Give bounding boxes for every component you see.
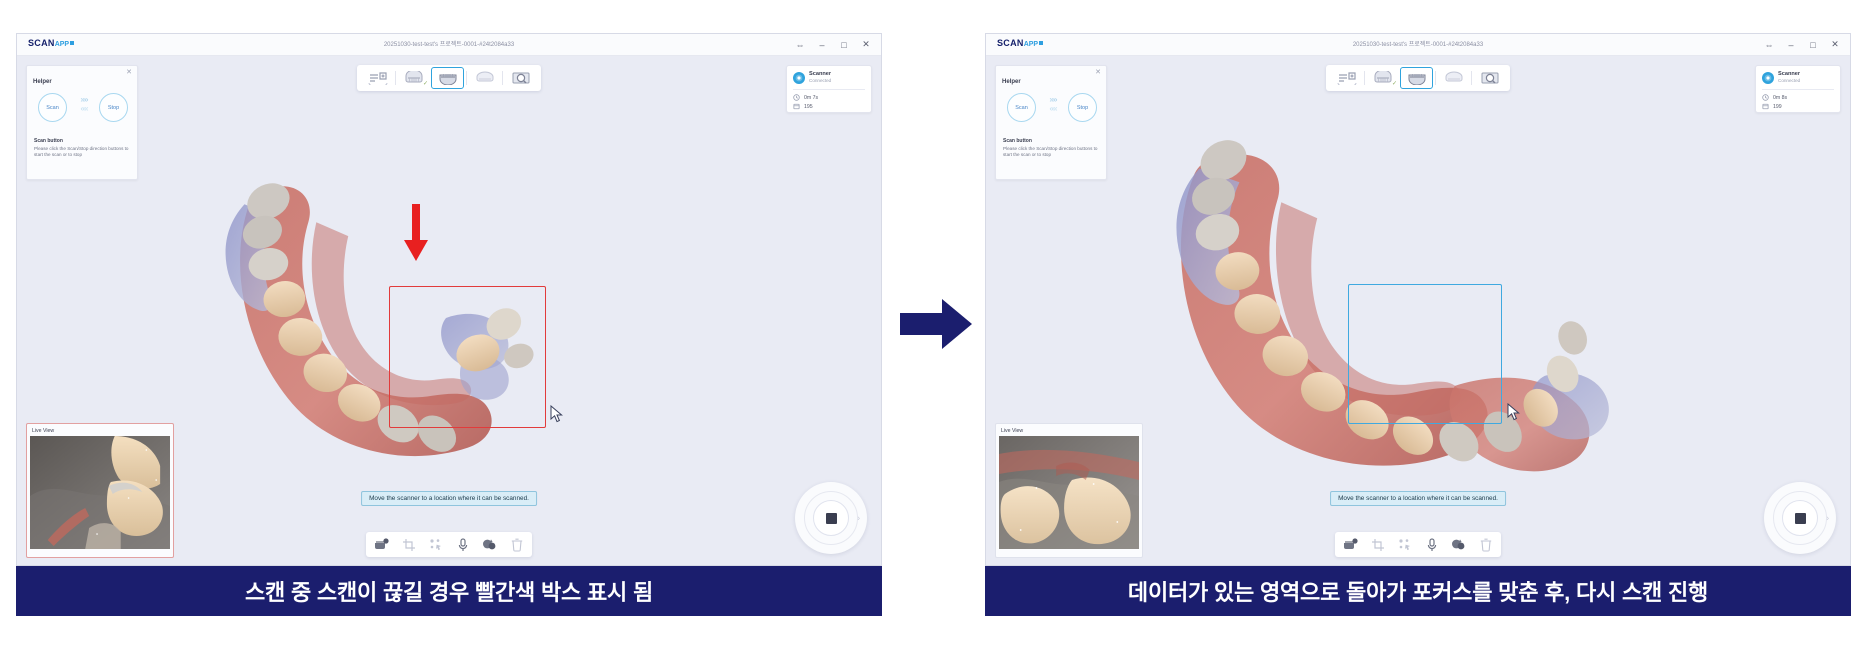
- scanner-header: Scanner Connected: [793, 71, 865, 84]
- scanner-icon: [793, 72, 805, 84]
- top-toolbar[interactable]: ✓: [357, 65, 541, 91]
- chevron-right-icon[interactable]: ›: [857, 514, 860, 523]
- helper-footer-label: Scan button: [34, 138, 131, 144]
- stop-square-icon: [826, 513, 837, 524]
- toolbar-separator: [466, 71, 467, 85]
- lower-jaw-icon[interactable]: [1400, 67, 1433, 89]
- helper-panel[interactable]: Helper ✕ Scan »» «« Stop Scan button Ple…: [995, 65, 1107, 180]
- stop-record-button[interactable]: [813, 500, 849, 536]
- divider: [793, 89, 865, 90]
- window-title: 20251030-test-test's 프로젝트-0001-#24t2084a…: [17, 39, 881, 48]
- frames-icon: [793, 103, 800, 110]
- record-control: ›: [795, 482, 867, 554]
- stop-button[interactable]: Stop: [99, 93, 128, 122]
- direction-arrows-icon: »» ««: [71, 95, 97, 113]
- chevron-right-icon[interactable]: ›: [1826, 514, 1829, 523]
- minimize-icon[interactable]: –: [1780, 34, 1802, 55]
- app-window-before: SCANAPP 20251030-test-test's 프로젝트-0001-#…: [16, 33, 882, 566]
- scanner-name: Scanner: [1778, 71, 1800, 78]
- app-window-after: SCANAPP 20251030-test-test's 프로젝트-0001-#…: [985, 33, 1851, 566]
- scan-button[interactable]: Scan: [1007, 93, 1036, 122]
- stop-button[interactable]: Stop: [1068, 93, 1097, 122]
- mouse-cursor: [1507, 403, 1521, 421]
- back-arrows: ««: [71, 104, 97, 113]
- helper-close-icon[interactable]: ✕: [126, 69, 132, 76]
- live-view-panel: Live View: [995, 423, 1143, 558]
- microphone-icon[interactable]: [454, 536, 471, 553]
- toolbar-separator: [1364, 71, 1365, 85]
- caption-after: 데이터가 있는 영역으로 돌아가 포커스를 맞춘 후, 다시 스캔 진행: [985, 566, 1851, 616]
- window-title: 20251030-test-test's 프로젝트-0001-#24t2084a…: [986, 39, 1850, 48]
- link-icon[interactable]: ⇔: [789, 34, 811, 55]
- microphone-icon[interactable]: [1423, 536, 1440, 553]
- scan-button[interactable]: Scan: [38, 93, 67, 122]
- scan-time-value: 0m 8s: [1773, 95, 1787, 101]
- stop-square-icon: [1795, 513, 1806, 524]
- scan-time-row: 0m 8s: [1762, 94, 1834, 101]
- scanner-status-card: Scanner Connected 0m 8s 199: [1755, 65, 1841, 113]
- helper-body: Scan »» «« Stop: [27, 82, 137, 134]
- caption-before: 스캔 중 스캔이 끊길 경우 빨간색 박스 표시 됨: [16, 566, 882, 616]
- direction-arrows-icon: »» ««: [1040, 95, 1066, 113]
- clock-icon: [793, 94, 800, 101]
- title-bar: SCANAPP 20251030-test-test's 프로젝트-0001-#…: [986, 34, 1850, 56]
- toolbar-separator: [1435, 71, 1436, 85]
- crop-tool-icon[interactable]: [400, 536, 417, 553]
- bite-icon[interactable]: [469, 68, 500, 88]
- check-icon: ✓: [1392, 80, 1397, 87]
- inspect-icon[interactable]: [505, 68, 536, 88]
- scan-focus-highlight-box: [1348, 284, 1502, 424]
- helper-footer: Scan button Please click the Scan/Stop d…: [996, 134, 1106, 158]
- panel-before: SCANAPP 20251030-test-test's 프로젝트-0001-#…: [16, 33, 882, 616]
- window-controls: ⇔ – □ ✕: [1758, 34, 1846, 55]
- forward-arrows: »»: [71, 95, 97, 104]
- helper-footer: Scan button Please click the Scan/Stop d…: [27, 134, 137, 158]
- scanner-info: Scanner Connected: [1778, 71, 1800, 84]
- scanner-state: Connected: [1778, 78, 1800, 84]
- delete-icon[interactable]: [508, 536, 525, 553]
- scan-count-row: 195: [793, 103, 865, 110]
- helper-footer-label: Scan button: [1003, 138, 1100, 144]
- scanner-state: Connected: [809, 78, 831, 84]
- inspect-icon[interactable]: [1474, 68, 1505, 88]
- transition-arrow-icon: [900, 295, 972, 353]
- helper-body: Scan »» «« Stop: [996, 82, 1106, 134]
- check-icon: ✓: [423, 80, 428, 87]
- comparison-figure: SCANAPP 20251030-test-test's 프로젝트-0001-#…: [0, 0, 1854, 649]
- top-toolbar[interactable]: ✓: [1326, 65, 1510, 91]
- window-controls: ⇔ – □ ✕: [789, 34, 877, 55]
- link-icon[interactable]: ⇔: [1758, 34, 1780, 55]
- scanner-info: Scanner Connected: [809, 71, 831, 84]
- title-bar: SCANAPP 20251030-test-test's 프로젝트-0001-#…: [17, 34, 881, 56]
- scanner-header: Scanner Connected: [1762, 71, 1834, 84]
- model-tool-icon[interactable]: [1342, 536, 1359, 553]
- live-view-panel: Live View: [26, 423, 174, 558]
- helper-footer-desc: Please click the Scan/Stop direction but…: [1003, 146, 1100, 158]
- scan-time-value: 0m 7s: [804, 95, 818, 101]
- forward-arrows: »»: [1040, 95, 1066, 104]
- scan-count-value: 195: [804, 104, 813, 110]
- clock-icon: [1762, 94, 1769, 101]
- toolbar-separator: [502, 71, 503, 85]
- scan-hint-message: Move the scanner to a location where it …: [361, 491, 537, 506]
- minimize-icon[interactable]: –: [811, 34, 833, 55]
- back-arrows: ««: [1040, 104, 1066, 113]
- scanner-status-card: Scanner Connected 0m 7s 195: [786, 65, 872, 113]
- helper-close-icon[interactable]: ✕: [1095, 69, 1101, 76]
- divider: [1762, 89, 1834, 90]
- helper-panel[interactable]: Helper ✕ Scan »» «« Stop Scan button Ple…: [26, 65, 138, 180]
- maximize-icon[interactable]: □: [1802, 34, 1824, 55]
- live-view-image: [999, 436, 1139, 549]
- maximize-icon[interactable]: □: [833, 34, 855, 55]
- close-icon[interactable]: ✕: [1824, 34, 1846, 55]
- live-view-title: Live View: [999, 427, 1139, 436]
- panel-after: SCANAPP 20251030-test-test's 프로젝트-0001-#…: [985, 33, 1851, 616]
- scanner-name: Scanner: [809, 71, 831, 78]
- helper-header: Helper ✕: [27, 66, 137, 82]
- scan-canvas-before[interactable]: Helper ✕ Scan »» «« Stop Scan button Ple…: [17, 56, 881, 566]
- lower-jaw-icon[interactable]: [431, 67, 464, 89]
- mouse-cursor: [550, 405, 564, 423]
- model-tool-icon[interactable]: [373, 536, 390, 553]
- bottom-toolbar[interactable]: [1335, 532, 1501, 557]
- scanner-icon: [1762, 72, 1774, 84]
- scan-break-highlight-box: [389, 286, 546, 428]
- live-view-title: Live View: [30, 427, 170, 436]
- add-scan-icon[interactable]: [362, 68, 393, 88]
- stop-record-button[interactable]: [1782, 500, 1818, 536]
- record-control: ›: [1764, 482, 1836, 554]
- toolbar-separator: [1471, 71, 1472, 85]
- crop-tool-icon[interactable]: [1369, 536, 1386, 553]
- add-scan-icon[interactable]: [1331, 68, 1362, 88]
- scan-canvas-after[interactable]: Helper ✕ Scan »» «« Stop Scan button Ple…: [986, 56, 1850, 566]
- frames-icon: [1762, 103, 1769, 110]
- live-view-image: [30, 436, 170, 549]
- scan-hint-message: Move the scanner to a location where it …: [1330, 491, 1506, 506]
- select-tool-icon[interactable]: [427, 536, 444, 553]
- scan-time-row: 0m 7s: [793, 94, 865, 101]
- fill-tool-icon[interactable]: [1450, 536, 1467, 553]
- select-tool-icon[interactable]: [1396, 536, 1413, 553]
- scan-count-row: 199: [1762, 103, 1834, 110]
- helper-footer-desc: Please click the Scan/Stop direction but…: [34, 146, 131, 158]
- caption-text: 데이터가 있는 영역으로 돌아가 포커스를 맞춘 후, 다시 스캔 진행: [1128, 575, 1708, 607]
- fill-tool-icon[interactable]: [481, 536, 498, 553]
- bottom-toolbar[interactable]: [366, 532, 532, 557]
- bite-icon[interactable]: [1438, 68, 1469, 88]
- scan-count-value: 199: [1773, 104, 1782, 110]
- close-icon[interactable]: ✕: [855, 34, 877, 55]
- toolbar-separator: [395, 71, 396, 85]
- annotation-down-arrow-icon: [403, 204, 429, 262]
- upper-jaw-icon[interactable]: ✓: [1367, 68, 1398, 88]
- caption-text: 스캔 중 스캔이 끊길 경우 빨간색 박스 표시 됨: [245, 575, 653, 607]
- delete-icon[interactable]: [1477, 536, 1494, 553]
- upper-jaw-icon[interactable]: ✓: [398, 68, 429, 88]
- helper-header: Helper ✕: [996, 66, 1106, 82]
